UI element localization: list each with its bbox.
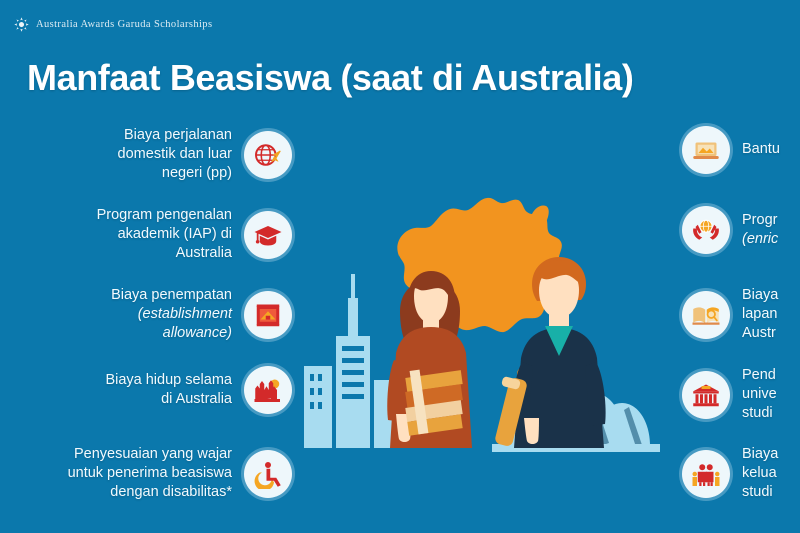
benefit-item-allowance[interactable]: Bantu <box>682 126 800 174</box>
benefit-item-iap[interactable]: Program pengenalan akademik (IAP) di Aus… <box>22 206 292 263</box>
laptop-icon <box>682 126 730 174</box>
slide-canvas: Australia Awards Garuda Scholarships Man… <box>0 0 800 533</box>
benefit-label: Biaya lapan Austr <box>742 286 800 343</box>
benefit-label: Biaya kelua studi <box>742 445 800 502</box>
benefit-label: Biaya hidup selama di Australia <box>22 371 232 409</box>
benefit-label: Biaya perjalanan domestik dan luar neger… <box>22 126 232 183</box>
hands-holding-globe-icon <box>682 206 730 254</box>
benefit-item-establishment[interactable]: Biaya penempatan(establishmentallowance) <box>22 286 292 343</box>
university-building-icon <box>682 371 730 419</box>
graduation-cap-icon <box>244 211 292 259</box>
wheelchair-accessibility-icon <box>244 450 292 498</box>
benefit-item-university[interactable]: Pend unive studi <box>682 366 800 423</box>
star-burst-icon <box>14 17 29 32</box>
open-book-icon <box>682 291 730 339</box>
globe-airplane-icon <box>244 131 292 179</box>
brand-logo: Australia Awards Garuda Scholarships <box>14 17 212 32</box>
benefit-item-family[interactable]: Biaya kelua studi <box>682 445 800 502</box>
australia-students-illustration <box>296 178 664 468</box>
house-icon <box>244 291 292 339</box>
benefit-label: Bantu <box>742 140 800 159</box>
benefit-item-travel[interactable]: Biaya perjalanan domestik dan luar neger… <box>22 126 292 183</box>
benefit-label: Progr(enric <box>742 211 800 249</box>
family-group-icon <box>682 450 730 498</box>
benefit-item-enrichment[interactable]: Progr(enric <box>682 206 800 254</box>
benefit-item-disability-support[interactable]: Penyesuaian yang wajar untuk penerima be… <box>22 445 292 502</box>
benefit-label: Pend unive studi <box>742 366 800 423</box>
benefit-label: Biaya penempatan(establishmentallowance) <box>22 286 232 343</box>
benefit-item-living-cost[interactable]: Biaya hidup selama di Australia <box>22 366 292 414</box>
city-sun-icon <box>244 366 292 414</box>
brand-logo-text: Australia Awards Garuda Scholarships <box>36 19 212 30</box>
stack-of-books <box>405 370 463 436</box>
benefit-label: Penyesuaian yang wajar untuk penerima be… <box>22 445 232 502</box>
page-title: Manfaat Beasiswa (saat di Australia) <box>27 57 633 99</box>
benefit-label: Program pengenalan akademik (IAP) di Aus… <box>22 206 232 263</box>
benefit-item-fieldwork[interactable]: Biaya lapan Austr <box>682 286 800 343</box>
